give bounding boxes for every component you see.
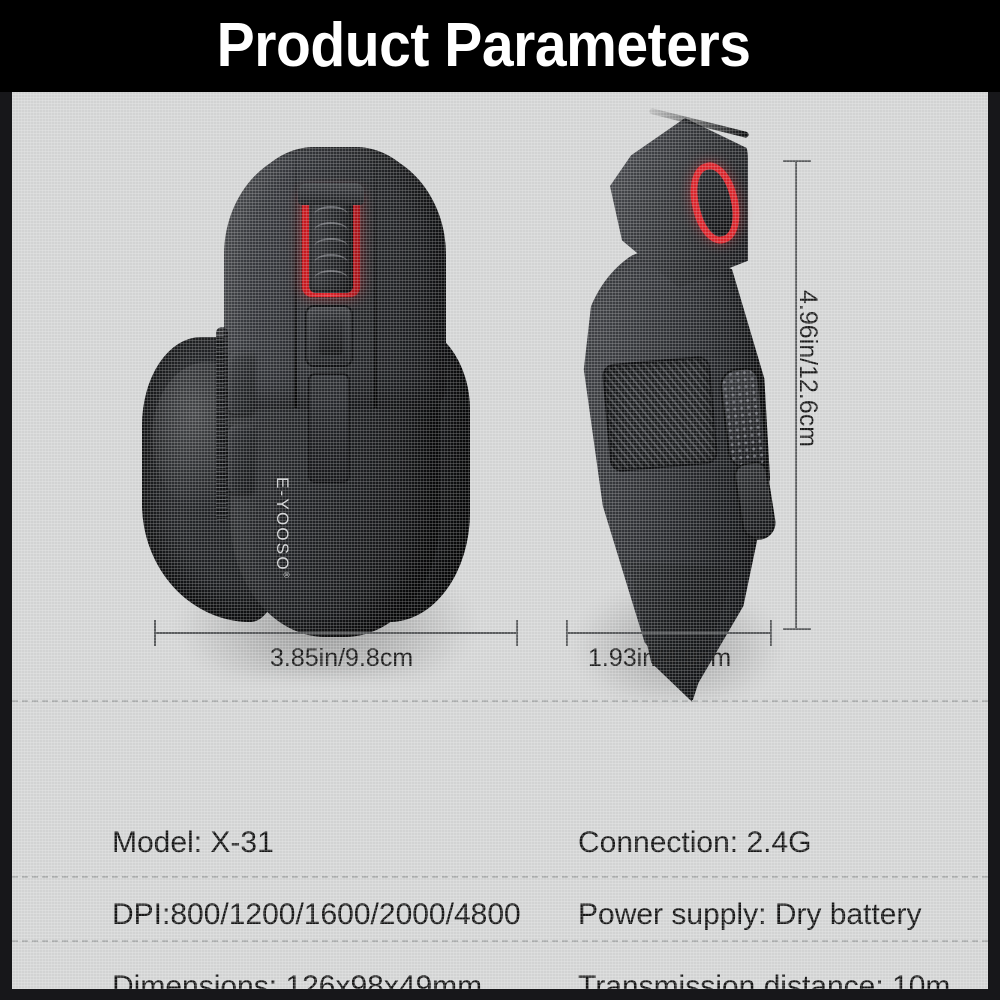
side-rib-texture — [216, 327, 228, 522]
product-image-area: E-YOOSO® 3.85in/9.8cm — [12, 92, 988, 702]
mouse-top-view: E-YOOSO® — [142, 147, 512, 657]
dimension-depth-label: 1.93in/4.9cm — [588, 644, 731, 673]
product-parameters-page: Product Parameters — [0, 0, 1000, 1000]
content-panel: E-YOOSO® 3.85in/9.8cm — [12, 92, 988, 989]
registered-mark: ® — [282, 572, 291, 580]
dimension-width-line — [154, 632, 518, 634]
dimension-width-label: 3.85in/9.8cm — [270, 644, 413, 673]
dimension-depth-line — [566, 632, 772, 634]
dimension-length-label: 4.96in/12.6cm — [793, 290, 822, 447]
spec-transmission-distance: Transmission distance: 10m — [578, 970, 950, 989]
dpi-button-inner — [319, 319, 343, 355]
dimension-length-tick-bottom — [783, 628, 811, 630]
right-button-seam — [374, 155, 377, 408]
scroll-wheel — [309, 196, 353, 293]
scroll-wheel-cap — [298, 183, 364, 205]
table-row: Dimensions: 126x98x49mm Transmission dis… — [12, 952, 988, 989]
side-button-forward — [228, 352, 254, 414]
table-row: Model: X-31 Connection: 2.4G — [12, 808, 988, 880]
dimension-length-tick-top — [783, 160, 811, 162]
spec-table: Model: X-31 Connection: 2.4G DPI:800/120… — [12, 700, 988, 989]
center-strip — [308, 373, 350, 483]
mouse-side-view — [552, 110, 802, 700]
spec-connection: Connection: 2.4G — [578, 826, 811, 860]
header-banner: Product Parameters — [0, 0, 1000, 92]
dimension-width-tick-end — [516, 620, 518, 646]
dpi-button — [305, 305, 353, 367]
spec-model: Model: X-31 — [112, 826, 274, 860]
page-title: Product Parameters — [217, 15, 751, 77]
spec-separator-1 — [12, 876, 988, 878]
spec-dimensions: Dimensions: 126x98x49mm — [112, 970, 482, 989]
left-button-seam — [294, 153, 297, 408]
side-button-back — [228, 425, 254, 493]
spec-power-supply: Power supply: Dry battery — [578, 898, 921, 932]
spec-separator-top — [12, 700, 988, 702]
spec-dpi: DPI:800/1200/1600/2000/4800 — [112, 898, 521, 932]
dimension-depth-tick-end — [770, 620, 772, 646]
brand-logo: E-YOOSO® — [272, 477, 292, 580]
spec-separator-2 — [12, 940, 988, 942]
dimension-depth-tick-start — [566, 620, 568, 646]
scroll-wheel-housing — [302, 192, 360, 297]
dimension-width-tick-start — [154, 620, 156, 646]
grip-texture-panel — [601, 355, 718, 472]
brand-logo-text: E-YOOSO — [273, 477, 292, 572]
